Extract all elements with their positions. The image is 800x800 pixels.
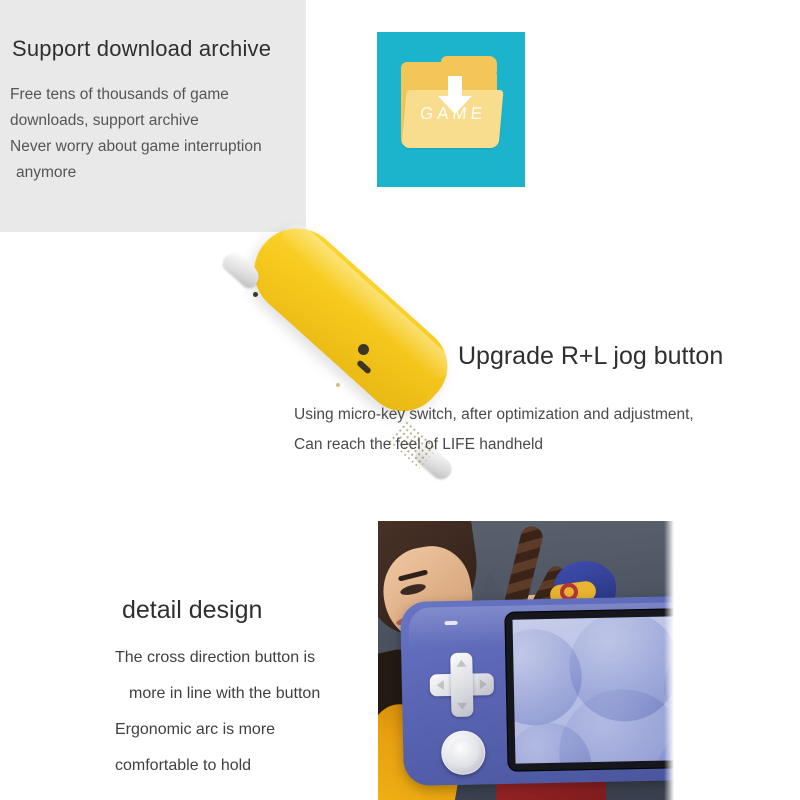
yellow-console-body [237, 211, 464, 427]
dpad-down-arrow-icon [457, 703, 467, 710]
download-archive-body-line-2: downloads, support archive [10, 108, 310, 134]
arrow-head [438, 96, 472, 114]
download-arrow-icon [443, 76, 467, 112]
jog-button-body: Using micro-key switch, after optimizati… [294, 400, 694, 460]
status-led [336, 383, 340, 387]
jog-button-title: Upgrade R+L jog button [458, 342, 723, 371]
headphone-jack [358, 344, 369, 355]
detail-design-body: The cross direction button is more in li… [115, 640, 320, 784]
dpad-right-arrow-icon [480, 679, 487, 689]
console-screen-bezel [504, 608, 674, 772]
yellow-handheld-console [196, 248, 496, 508]
download-archive-body: Free tens of thousands of game downloads… [10, 82, 310, 186]
console-screen [512, 616, 674, 764]
arrow-stem [448, 76, 462, 98]
microphone-hole [253, 292, 258, 297]
jog-button-body-line-2: Can reach the feel of LIFE handheld [294, 430, 694, 460]
jog-button-body-line-1: Using micro-key switch, after optimizati… [294, 400, 694, 430]
photo-right-fade [664, 521, 674, 800]
minus-indicator-icon [445, 621, 458, 625]
dpad-icon [429, 652, 494, 717]
game-download-icon: GAME [377, 32, 525, 187]
download-archive-body-line-4: anymore [10, 160, 310, 186]
download-archive-body-line-3: Never worry about game interruption [10, 134, 310, 160]
folder-icon: GAME [401, 62, 501, 152]
detail-design-body-line-2: more in line with the button [115, 676, 320, 712]
blue-console-body [400, 596, 674, 786]
detail-design-body-line-4: comfortable to hold [115, 748, 320, 784]
download-archive-title: Support download archive [12, 36, 271, 62]
detail-design-body-line-1: The cross direction button is [115, 640, 320, 676]
detail-design-title: detail design [122, 596, 262, 625]
dpad-left-arrow-icon [437, 680, 444, 690]
analog-stick [441, 730, 486, 775]
dpad-up-arrow-icon [456, 660, 466, 667]
download-archive-body-line-1: Free tens of thousands of game [10, 82, 310, 108]
blue-console-photo [378, 521, 674, 800]
detail-design-body-line-3: Ergonomic arc is more [115, 712, 320, 748]
